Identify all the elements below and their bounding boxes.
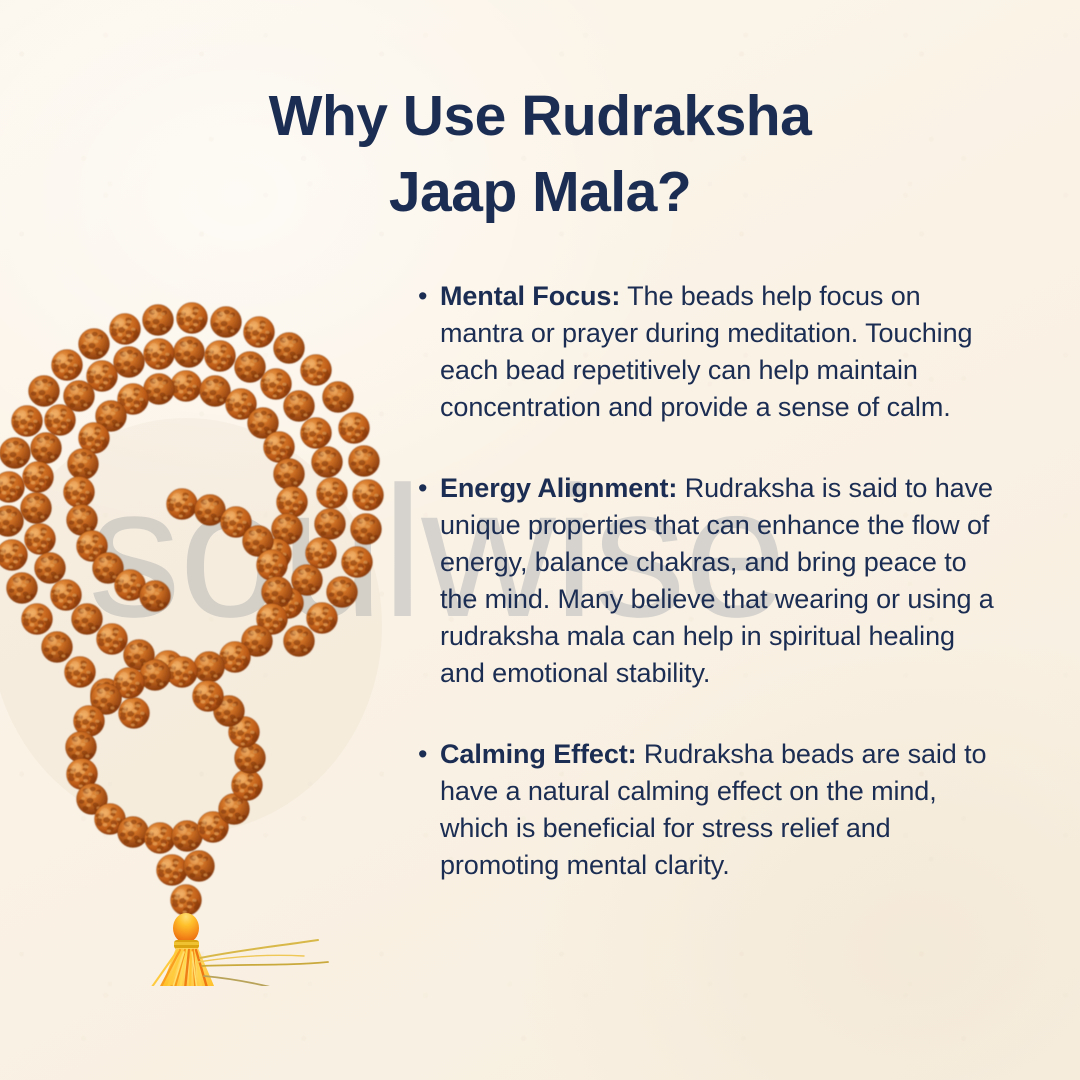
list-item: • Mental Focus: The beads help focus on … <box>418 278 1003 426</box>
list-item-text: Energy Alignment: Rudraksha is said to h… <box>440 470 1003 692</box>
list-item: • Calming Effect: Rudraksha beads are sa… <box>418 736 1003 884</box>
page-title-line2: Jaap Mala? <box>0 154 1080 230</box>
benefits-list: • Mental Focus: The beads help focus on … <box>418 278 1003 884</box>
bullet-dot-icon: • <box>418 278 440 315</box>
page-title-line1: Why Use Rudraksha <box>0 78 1080 154</box>
list-item-text: Mental Focus: The beads help focus on ma… <box>440 278 1003 426</box>
list-item-lead: Energy Alignment: <box>440 473 677 503</box>
bullet-dot-icon: • <box>418 736 440 773</box>
bullet-dot-icon: • <box>418 470 440 507</box>
list-item-lead: Mental Focus: <box>440 281 620 311</box>
list-item-text: Calming Effect: Rudraksha beads are said… <box>440 736 1003 884</box>
poster-canvas: soulwise <box>0 0 1080 1080</box>
page-title: Why Use Rudraksha Jaap Mala? <box>0 78 1080 230</box>
list-item: • Energy Alignment: Rudraksha is said to… <box>418 470 1003 692</box>
list-item-body: Rudraksha is said to have unique propert… <box>440 473 994 688</box>
rudraksha-mala-illustration <box>0 296 406 986</box>
list-item-lead: Calming Effect: <box>440 739 637 769</box>
